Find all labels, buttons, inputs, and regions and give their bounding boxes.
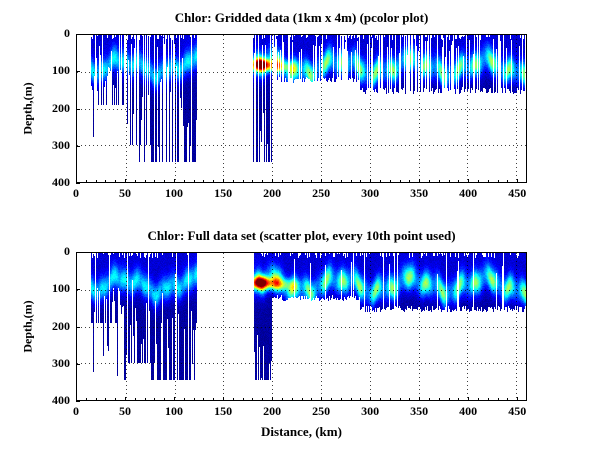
bottom-y-tick-label: 100	[30, 281, 70, 296]
top-x-minor-tick	[164, 180, 165, 183]
top-x-minor-tick	[507, 180, 508, 183]
bottom-x-minor-tick	[135, 398, 136, 401]
top-y-tick-mark	[76, 146, 80, 147]
top-y-tick-mark	[76, 34, 80, 35]
bottom-panel-title: Chlor: Full data set (scatter plot, ever…	[76, 228, 527, 244]
top-x-minor-tick	[390, 180, 391, 183]
top-panel-title: Chlor: Gridded data (1km x 4m) (pcolor p…	[76, 10, 527, 26]
bottom-y-tick-label: 200	[30, 319, 70, 334]
top-x-minor-tick	[400, 180, 401, 183]
bottom-y-tick-mark	[76, 252, 80, 253]
bottom-x-minor-tick	[243, 398, 244, 401]
top-x-tick-label: 150	[198, 186, 248, 201]
top-x-tick-mark	[321, 179, 322, 183]
top-x-minor-tick	[86, 180, 87, 183]
bottom-y-tick-mark	[76, 364, 80, 365]
bottom-x-tick-label: 100	[149, 404, 199, 419]
bottom-x-minor-tick	[96, 398, 97, 401]
top-y-tick-label: 200	[30, 101, 70, 116]
bottom-x-minor-tick	[331, 398, 332, 401]
bottom-x-tick-label: 200	[247, 404, 297, 419]
bottom-x-minor-tick	[380, 398, 381, 401]
bottom-y-tick-label: 400	[30, 393, 70, 408]
bottom-x-minor-tick	[478, 398, 479, 401]
bottom-x-tick-label: 50	[100, 404, 150, 419]
top-x-minor-tick	[233, 180, 234, 183]
top-x-minor-tick	[154, 180, 155, 183]
bottom-x-minor-tick	[262, 398, 263, 401]
top-x-tick-label: 100	[149, 186, 199, 201]
bottom-x-minor-tick	[154, 398, 155, 401]
bottom-x-tick-label: 300	[345, 404, 395, 419]
bottom-x-minor-tick	[390, 398, 391, 401]
bottom-x-minor-tick	[282, 398, 283, 401]
top-y-tick-mark	[76, 109, 80, 110]
bottom-x-minor-tick	[400, 398, 401, 401]
top-x-minor-tick	[380, 180, 381, 183]
top-x-tick-mark	[272, 179, 273, 183]
top-x-tick-mark	[419, 179, 420, 183]
top-x-minor-tick	[184, 180, 185, 183]
bottom-x-minor-tick	[233, 398, 234, 401]
top-x-minor-tick	[302, 180, 303, 183]
top-x-tick-label: 350	[394, 186, 444, 201]
bottom-x-minor-tick	[213, 398, 214, 401]
top-x-tick-mark	[517, 179, 518, 183]
bottom-x-minor-tick	[302, 398, 303, 401]
bottom-x-minor-tick	[429, 398, 430, 401]
top-x-tick-label: 400	[443, 186, 493, 201]
bottom-x-minor-tick	[458, 398, 459, 401]
top-x-tick-mark	[370, 179, 371, 183]
bottom-x-minor-tick	[360, 398, 361, 401]
bottom-x-minor-tick	[184, 398, 185, 401]
bottom-x-tick-mark	[223, 397, 224, 401]
bottom-x-minor-tick	[341, 398, 342, 401]
top-panel-pcolor-image	[77, 35, 526, 182]
top-x-minor-tick	[360, 180, 361, 183]
top-y-tick-label: 100	[30, 63, 70, 78]
bottom-x-tick-mark	[370, 397, 371, 401]
bottom-y-axis-label: Depth,(m)	[21, 276, 36, 376]
top-x-minor-tick	[135, 180, 136, 183]
top-x-minor-tick	[213, 180, 214, 183]
top-x-minor-tick	[311, 180, 312, 183]
top-panel-axes	[76, 34, 527, 183]
top-x-minor-tick	[292, 180, 293, 183]
bottom-panel-axes	[76, 252, 527, 401]
bottom-y-tick-mark	[76, 327, 80, 328]
bottom-x-tick-mark	[321, 397, 322, 401]
bottom-x-tick-label: 450	[492, 404, 542, 419]
bottom-x-tick-mark	[517, 397, 518, 401]
bottom-y-tick-mark	[76, 289, 80, 290]
top-y-axis-label: Depth,(m)	[21, 58, 36, 158]
bottom-x-minor-tick	[145, 398, 146, 401]
bottom-x-minor-tick	[409, 398, 410, 401]
x-axis-label: Distance, (km)	[76, 424, 527, 440]
bottom-x-minor-tick	[498, 398, 499, 401]
top-x-tick-label: 200	[247, 186, 297, 201]
bottom-y-tick-mark	[76, 401, 80, 402]
top-x-minor-tick	[331, 180, 332, 183]
top-x-minor-tick	[243, 180, 244, 183]
top-y-tick-label: 300	[30, 138, 70, 153]
top-x-tick-label: 250	[296, 186, 346, 201]
top-x-minor-tick	[96, 180, 97, 183]
top-x-minor-tick	[145, 180, 146, 183]
top-x-minor-tick	[203, 180, 204, 183]
bottom-x-minor-tick	[488, 398, 489, 401]
bottom-x-tick-mark	[272, 397, 273, 401]
bottom-panel-scatter-image	[77, 253, 526, 400]
top-x-tick-mark	[174, 179, 175, 183]
bottom-x-minor-tick	[292, 398, 293, 401]
top-y-tick-mark	[76, 71, 80, 72]
top-x-tick-mark	[223, 179, 224, 183]
top-x-minor-tick	[439, 180, 440, 183]
bottom-x-minor-tick	[252, 398, 253, 401]
figure-canvas: Chlor: Gridded data (1km x 4m) (pcolor p…	[0, 0, 600, 451]
top-x-minor-tick	[498, 180, 499, 183]
top-x-tick-mark	[468, 179, 469, 183]
top-x-minor-tick	[478, 180, 479, 183]
bottom-x-minor-tick	[507, 398, 508, 401]
top-y-tick-label: 400	[30, 175, 70, 190]
bottom-x-tick-label: 350	[394, 404, 444, 419]
bottom-y-tick-label: 300	[30, 356, 70, 371]
top-y-tick-label: 0	[30, 26, 70, 41]
bottom-x-tick-mark	[174, 397, 175, 401]
top-x-tick-label: 50	[100, 186, 150, 201]
top-x-minor-tick	[262, 180, 263, 183]
bottom-x-minor-tick	[115, 398, 116, 401]
top-x-minor-tick	[351, 180, 352, 183]
bottom-x-minor-tick	[439, 398, 440, 401]
bottom-x-minor-tick	[203, 398, 204, 401]
bottom-y-tick-label: 0	[30, 244, 70, 259]
top-x-minor-tick	[194, 180, 195, 183]
bottom-x-tick-label: 400	[443, 404, 493, 419]
bottom-x-minor-tick	[449, 398, 450, 401]
bottom-x-minor-tick	[311, 398, 312, 401]
top-x-tick-label: 300	[345, 186, 395, 201]
bottom-x-tick-mark	[125, 397, 126, 401]
top-x-minor-tick	[449, 180, 450, 183]
bottom-x-minor-tick	[105, 398, 106, 401]
top-x-minor-tick	[115, 180, 116, 183]
top-x-minor-tick	[341, 180, 342, 183]
top-x-minor-tick	[409, 180, 410, 183]
bottom-x-tick-mark	[468, 397, 469, 401]
bottom-x-minor-tick	[194, 398, 195, 401]
top-x-minor-tick	[252, 180, 253, 183]
top-x-minor-tick	[458, 180, 459, 183]
bottom-x-tick-label: 250	[296, 404, 346, 419]
top-y-tick-mark	[76, 183, 80, 184]
bottom-x-minor-tick	[164, 398, 165, 401]
bottom-x-tick-label: 150	[198, 404, 248, 419]
bottom-x-minor-tick	[351, 398, 352, 401]
bottom-x-minor-tick	[86, 398, 87, 401]
top-x-minor-tick	[429, 180, 430, 183]
top-x-tick-label: 450	[492, 186, 542, 201]
bottom-x-tick-mark	[419, 397, 420, 401]
top-x-minor-tick	[282, 180, 283, 183]
top-x-minor-tick	[105, 180, 106, 183]
top-x-tick-mark	[125, 179, 126, 183]
top-x-minor-tick	[488, 180, 489, 183]
